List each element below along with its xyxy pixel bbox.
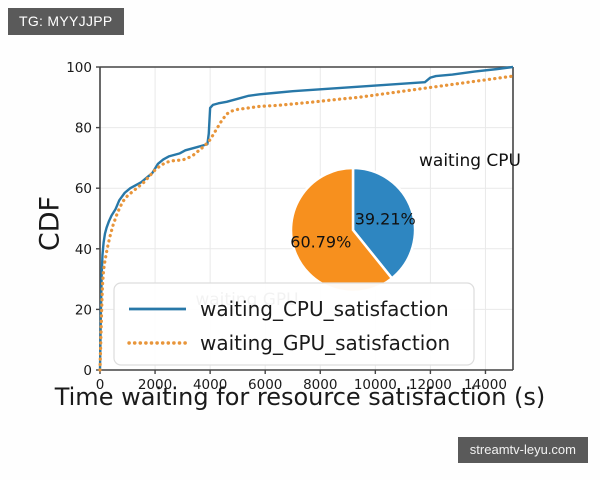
watermark: streamtv-leyu.com	[458, 437, 588, 463]
y-tick-label: 100	[66, 60, 92, 76]
y-tick-label: 60	[75, 181, 92, 197]
y-tick-label: 40	[75, 242, 92, 258]
figure-container: 02000400060008000100001200014000 0204060…	[0, 40, 600, 430]
cdf-plot: 02000400060008000100001200014000 0204060…	[0, 40, 600, 430]
y-tick-label: 80	[75, 121, 92, 137]
y-tick-label: 20	[75, 302, 92, 318]
tag-badge: TG: MYYJJPP	[8, 8, 124, 35]
y-axis-label: CDF	[35, 164, 66, 284]
y-tick-label: 0	[83, 363, 92, 379]
y-axis-ticks: 020406080100	[66, 60, 100, 379]
legend-label: waiting_CPU_satisfaction	[200, 297, 449, 321]
pie-slice-value: 39.21%	[355, 210, 416, 229]
x-axis-label: Time waiting for resource satisfaction (…	[0, 383, 600, 411]
legend-label: waiting_GPU_satisfaction	[200, 331, 450, 355]
chart-legend: waiting_CPU_satisfactionwaiting_GPU_sati…	[114, 283, 474, 365]
screenshot-canvas: TG: MYYJJPP 0200040006000800010000120001…	[0, 0, 600, 480]
pie-slice-value: 60.79%	[290, 232, 351, 251]
pie-slice-label: waiting CPU	[419, 151, 521, 171]
